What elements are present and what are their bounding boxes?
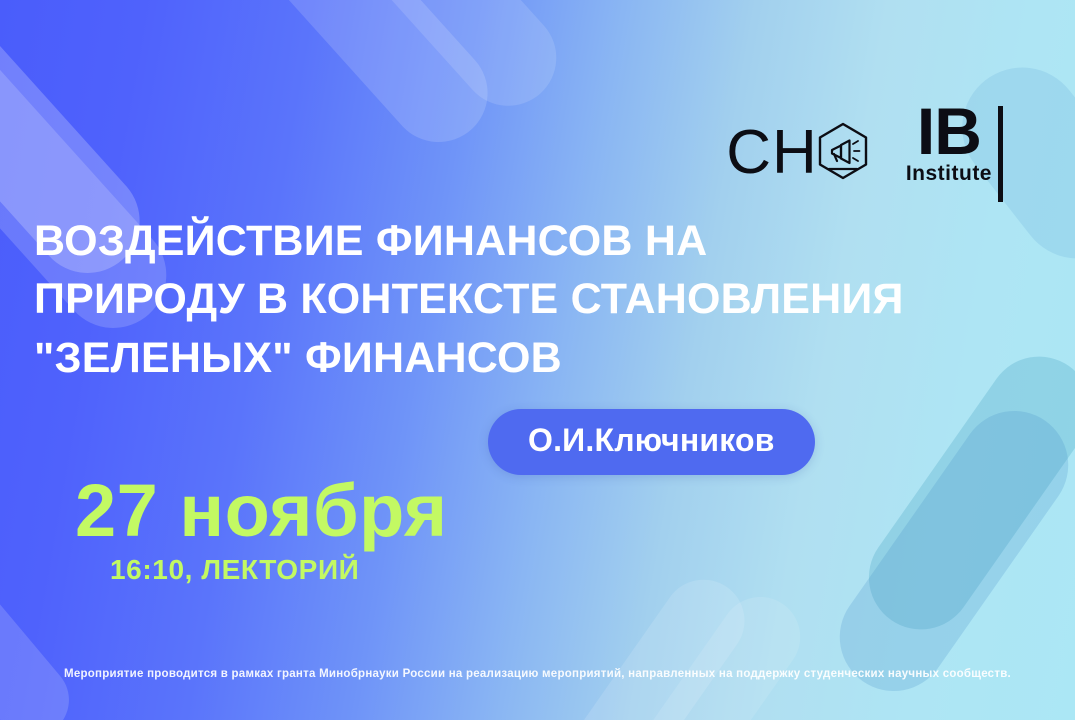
logo-row: CH IB Institute: [726, 104, 1003, 202]
ib-logo-text: IB: [917, 104, 981, 158]
page-title: ВОЗДЕЙСТВИЕ ФИНАНСОВ НА ПРИРОДУ В КОНТЕК…: [34, 212, 1044, 387]
cho-logo: CH: [726, 120, 874, 187]
decorative-capsule: [234, 0, 508, 162]
decorative-capsule: [304, 0, 576, 126]
ib-logo-divider: [998, 106, 1003, 202]
event-date: 27 ноября: [75, 474, 448, 548]
event-time-place: 16:10, ЛЕКТОРИЙ: [110, 554, 359, 586]
decorative-capsule: [819, 390, 1075, 712]
title-line-3: "ЗЕЛЕНЫХ" ФИНАНСОВ: [34, 329, 1044, 387]
footer-note: Мероприятие проводится в рамках гранта М…: [0, 668, 1075, 680]
ib-logo-subtitle: Institute: [906, 162, 992, 186]
decorative-capsule: [521, 564, 760, 720]
decorative-capsule: [0, 536, 84, 720]
event-poster: CH IB Institute: [0, 0, 1075, 720]
cho-logo-text: CH: [726, 122, 818, 184]
megaphone-hexagon-icon: [812, 120, 874, 187]
title-line-2: ПРИРОДУ В КОНТЕКСТЕ СТАНОВЛЕНИЯ: [34, 270, 1044, 328]
decorative-capsule: [584, 581, 816, 720]
ib-institute-logo: IB Institute: [906, 104, 1003, 202]
speaker-badge: О.И.Ключников: [488, 409, 815, 475]
title-line-1: ВОЗДЕЙСТВИЕ ФИНАНСОВ НА: [34, 212, 1044, 270]
ib-logo-block: IB Institute: [906, 104, 992, 186]
